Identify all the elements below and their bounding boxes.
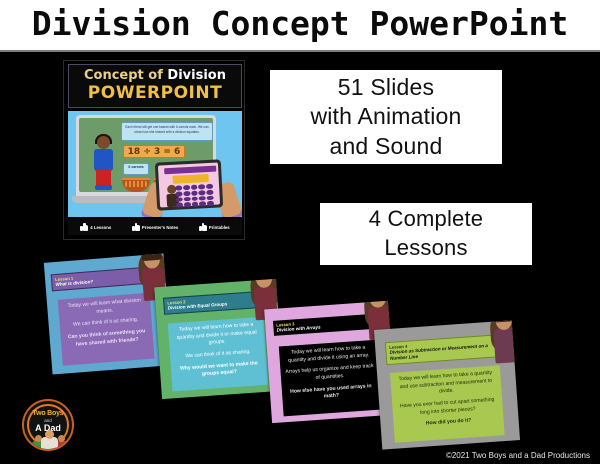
info-lessons-line-2: Lessons: [384, 234, 467, 263]
copyright-notice: ©2021 Two Boys and a Dad Productions: [0, 451, 600, 460]
thumbs-up-icon: [199, 223, 207, 231]
division-equation: 18 ÷ 3 = 6: [123, 145, 185, 158]
info-slides-line-1: 51 Slides: [338, 73, 434, 102]
title-divider: [0, 50, 600, 52]
slide3-body-line-1: Today we will learn how to take a quanti…: [283, 344, 374, 366]
cover-heading-line1: Concept of Division: [84, 69, 226, 83]
cover-heading-concept-of: Concept of: [84, 68, 163, 83]
cover-illustration: Each friend will get one basket with 6 c…: [68, 111, 242, 217]
slide4-body-line-2: Have you ever had to cut apart something…: [396, 396, 499, 418]
cover-heading-division: Division: [167, 68, 226, 83]
tablet-graphic: [155, 159, 223, 210]
feature-printables-label: Printables: [209, 225, 230, 230]
slide-callout-text: Each friend will get one basket with 6 c…: [121, 122, 213, 141]
info-box-lessons: 4 Complete Lessons: [320, 203, 532, 265]
slide3-body-line-2: Arrays help us organize and keep track o…: [284, 363, 375, 385]
cover-feature-bar: 4 Lessons Presenter's Notes Printables: [68, 219, 242, 235]
info-box-slides: 51 Slides with Animation and Sound: [270, 70, 502, 164]
thumbs-up-icon: [132, 223, 140, 231]
feature-lessons: 4 Lessons: [80, 223, 111, 231]
feature-printables: Printables: [199, 223, 230, 231]
slide3-body-line-3: How else have you used arrays in math?: [286, 382, 377, 404]
poster-root: Division Concept PowerPoint Concept of D…: [0, 0, 600, 464]
slide1-body: Today we will learn what division means.…: [58, 293, 155, 366]
slide-thumbnail-lesson-4[interactable]: Lesson 4 Division as Subtraction or Meas…: [374, 320, 520, 449]
array-dots: [175, 184, 214, 208]
brand-logo[interactable]: Two Boys and A Dad: [22, 399, 74, 451]
slide4-body-line-3: How did you do it?: [398, 416, 500, 431]
page-title: Division Concept PowerPoint: [32, 7, 568, 43]
feature-lessons-label: 4 Lessons: [90, 225, 111, 230]
family-illustration: [32, 429, 68, 449]
slide4-title-block: Lesson 4 Division as Subtraction or Meas…: [385, 334, 498, 364]
cover-heading: Concept of Division POWERPOINT: [68, 64, 242, 108]
slide2-body-line-1: Today we will learn how to take a quanti…: [172, 321, 261, 350]
tablet-subtitle-bar: [172, 174, 208, 184]
info-lessons-line-1: 4 Complete: [369, 205, 484, 234]
slide4-body-line-1: Today we will learn how to take a quanti…: [394, 370, 497, 400]
logo-top-text: Two Boys: [24, 410, 72, 417]
tablet-screen: [158, 162, 220, 207]
info-slides-line-3: and Sound: [329, 132, 442, 161]
tablet-title-bar: [164, 166, 216, 175]
slide2-title-block: Lesson 2 Division with Equal Groups: [163, 291, 264, 315]
basket-icon-1: [122, 178, 150, 192]
cover-thumbnail[interactable]: Concept of Division POWERPOINT Each frie…: [63, 60, 245, 240]
slide2-body-line-3: Why would we want to make the groups equ…: [175, 360, 264, 381]
thumbs-up-icon: [80, 223, 88, 231]
carrot-label-1: 6 carrots: [123, 163, 149, 175]
slide2-body: Today we will learn how to take a quanti…: [168, 317, 269, 392]
info-slides-line-2: with Animation: [310, 102, 461, 131]
character-avatar: [489, 320, 520, 363]
title-bar: Division Concept PowerPoint: [0, 0, 600, 50]
slide1-body-line-3: Can you think of something you have shar…: [64, 328, 149, 350]
slide3-title-block: Lesson 3 Division with Arrays: [273, 314, 376, 336]
student-character: [91, 136, 117, 192]
feature-presenters-notes: Presenter's Notes: [132, 223, 178, 231]
slide-thumbnail-lesson-2[interactable]: Lesson 2 Division with Equal Groups Toda…: [154, 279, 284, 399]
feature-presenters-notes-label: Presenter's Notes: [142, 225, 178, 230]
slide1-body-line-1: Today we will learn what division means.: [62, 297, 147, 319]
slide-thumbnail-lesson-1[interactable]: Lesson 1 What is division? Today we will…: [44, 253, 172, 374]
slide1-title-block: Lesson 1 What is division?: [51, 267, 150, 292]
cover-heading-powerpoint: POWERPOINT: [88, 85, 222, 103]
slide4-body: Today we will learn how to take a quanti…: [390, 365, 505, 443]
slide3-body: Today we will learn how to take a quanti…: [279, 340, 382, 417]
